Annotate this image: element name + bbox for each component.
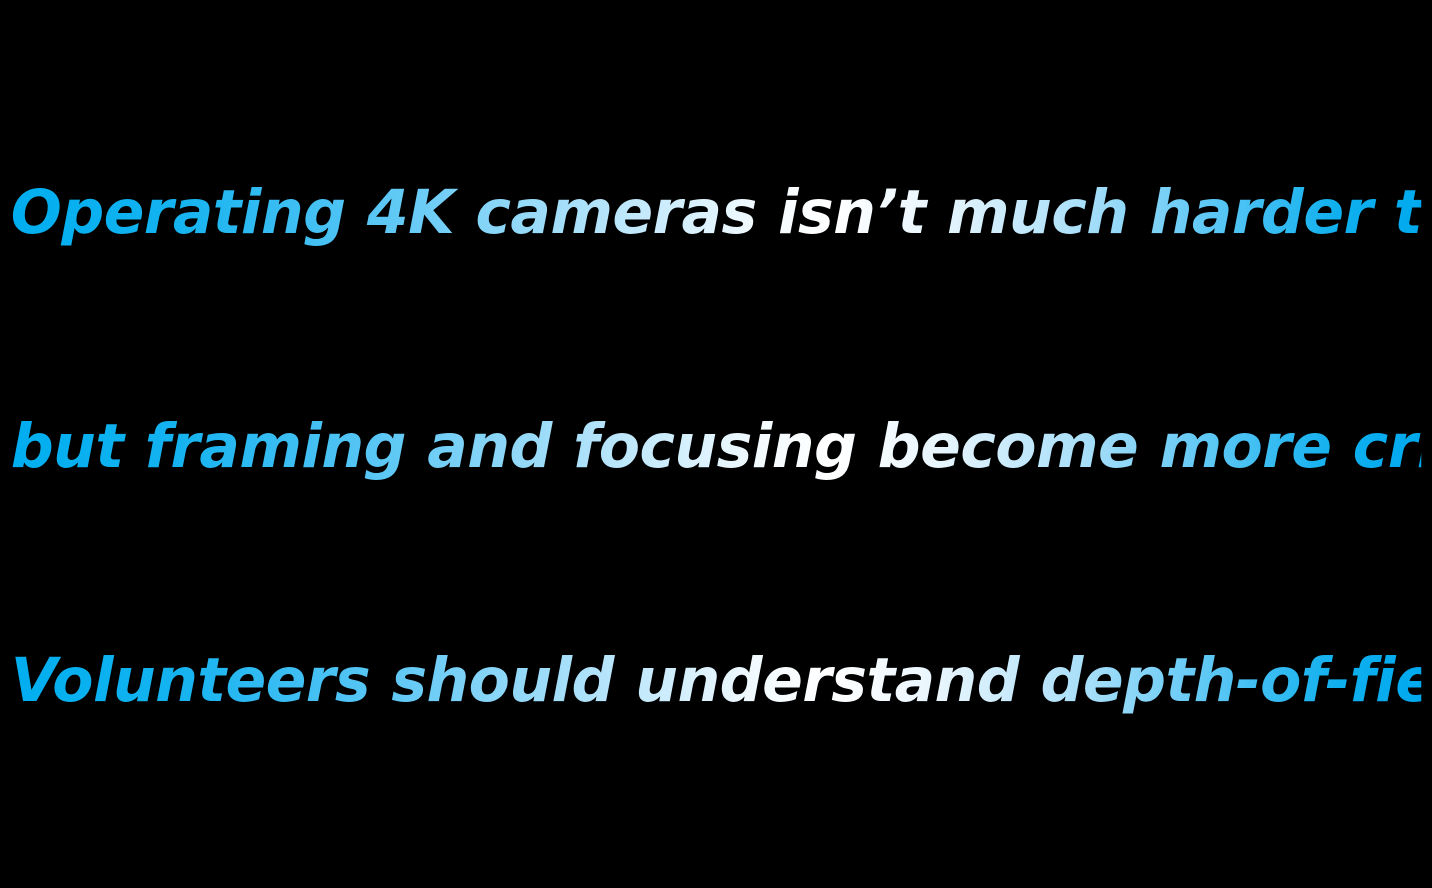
headline-text-block: Operating 4K cameras isn’t much harder t… bbox=[11, 18, 1422, 888]
headline-line-4: exposure, and how to avoid “over-zooming… bbox=[11, 876, 1422, 888]
headline-line-3: Volunteers should understand depth-of-fi… bbox=[11, 642, 1422, 720]
headline-line-1: Operating 4K cameras isn’t much harder t… bbox=[11, 174, 1422, 252]
slide-canvas: Operating 4K cameras isn’t much harder t… bbox=[0, 0, 1432, 444]
headline-line-2: but framing and focusing become more cri… bbox=[11, 408, 1422, 486]
